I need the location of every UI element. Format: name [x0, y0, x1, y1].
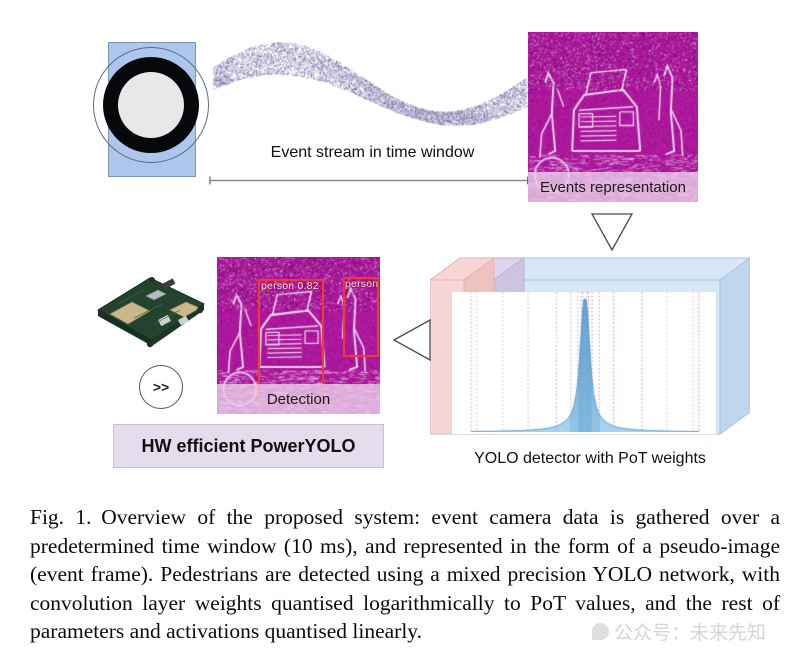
detection-box-label: person: [345, 278, 378, 290]
detection-result-image: person 0.82 person Detection: [217, 257, 380, 414]
detection-box-label: person 0.82: [261, 280, 319, 292]
detection-caption: Detection: [217, 384, 380, 414]
flow-triangle-down-icon: [590, 212, 634, 252]
events-representation-image: Events representation: [528, 32, 698, 202]
flow-triangle-left-icon: [392, 318, 432, 362]
camera-lens-center-icon: [118, 72, 184, 138]
event-stream-label: Event stream in time window: [200, 144, 545, 162]
event-stream-arrow-icon: [208, 172, 538, 181]
hw-efficient-poweryolo-box: HW efficient PowerYOLO: [113, 424, 384, 468]
watermark-text: 公众号：未来先知: [614, 618, 766, 645]
figure-caption-lead: Fig. 1.: [30, 505, 92, 529]
figure-diagram: Event stream in time window Events repre…: [0, 0, 804, 500]
fpga-board-image: [88, 258, 210, 358]
yolo-detector-caption: YOLO detector with PoT weights: [430, 450, 750, 468]
watermark-icon: [592, 623, 609, 640]
watermark: 公众号：未来先知: [592, 618, 766, 645]
events-representation-caption: Events representation: [528, 172, 698, 202]
weight-distribution-histogram: [454, 292, 716, 432]
event-stream-point-cloud: [205, 36, 535, 151]
deployment-chevron-icon: >>: [139, 365, 183, 409]
